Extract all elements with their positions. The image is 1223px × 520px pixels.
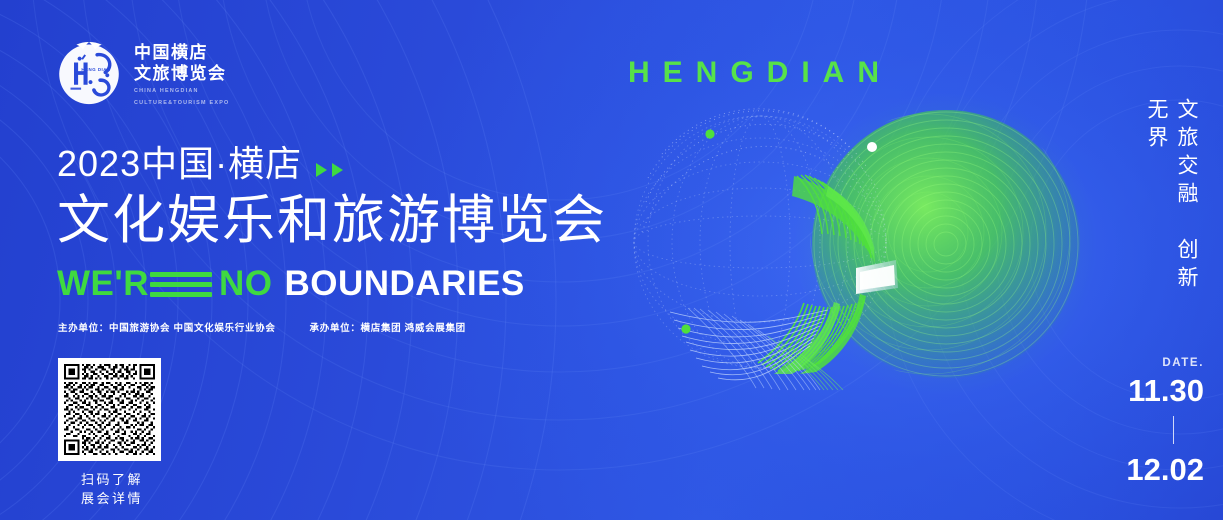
event-slogan: WE'R NO BOUNDARIES <box>57 264 607 304</box>
qr-caption-line2: 展会详情 <box>58 489 166 508</box>
green-node-dot <box>705 129 714 138</box>
organizer-line: 主办单位：中国旅游协会 中国文化娱乐行业协会 承办单位：横店集团 鸿威会展集团 <box>58 322 466 336</box>
logo-cn-line1: 中国横店 <box>134 43 229 63</box>
qr-caption: 扫码了解 展会详情 <box>58 470 166 508</box>
white-node-dot <box>867 142 877 152</box>
svg-text:HENG DIAN: HENG DIAN <box>81 67 110 72</box>
organizer-coordinator: 承办单位：横店集团 鸿威会展集团 <box>310 322 466 336</box>
brand-logo-lockup: HENG DIAN 中国横店 文旅博览会 CHINA HENGDIAN CULT… <box>55 40 229 108</box>
left-content-column: HENG DIAN 中国横店 文旅博览会 CHINA HENGDIAN CULT… <box>55 0 695 520</box>
event-date-block: DATE. 11.30 12.02 <box>1074 356 1204 488</box>
event-year-text: 2023中国·横店 <box>57 142 302 186</box>
headline-block: 2023中国·横店 文化娱乐和旅游博览会 WE'R NO BOUNDARIES <box>57 142 607 304</box>
hengdian-expo-emblem-icon: HENG DIAN <box>55 40 123 108</box>
qr-caption-line1: 扫码了解 <box>58 470 166 489</box>
qr-block[interactable]: 扫码了解 展会详情 <box>58 358 170 508</box>
date-end: 12.02 <box>1074 451 1204 488</box>
qr-code-icon[interactable] <box>58 358 161 461</box>
vertical-slogan-line1: 文旅交融 <box>1175 98 1198 210</box>
logo-en-line1: CHINA HENGDIAN <box>134 88 229 95</box>
circular-brand-text: HENGDIAN <box>628 56 892 89</box>
organizer-host: 主办单位：中国旅游协会 中国文化娱乐行业协会 <box>58 322 276 336</box>
logo-en-line2: CULTURE&TOURISM EXPO <box>134 100 229 107</box>
green-node-dot <box>681 324 690 333</box>
date-label: DATE. <box>1074 356 1204 370</box>
event-banner: HENG DIAN 中国横店 文旅博览会 CHINA HENGDIAN CULT… <box>0 0 1223 520</box>
double-right-arrow-icon <box>316 163 343 177</box>
date-start: 11.30 <box>1074 372 1204 409</box>
abstract-data-sphere-graphic: HENGDIAN <box>628 82 1098 432</box>
event-year-line: 2023中国·横店 <box>57 142 607 186</box>
slogan-part-1: WE'R <box>57 264 149 304</box>
slogan-part-2: NO <box>219 264 273 304</box>
date-divider <box>1173 416 1175 444</box>
brand-logo-text: 中国横店 文旅博览会 CHINA HENGDIAN CULTURE&TOURIS… <box>134 41 229 107</box>
vertical-slogan: 文旅交融 创新无界 <box>1141 98 1201 314</box>
event-main-title: 文化娱乐和旅游博览会 <box>57 188 607 254</box>
logo-cn-line2: 文旅博览会 <box>134 64 229 84</box>
slogan-part-3: BOUNDARIES <box>284 264 524 304</box>
stretched-letter-e-bars-icon <box>150 272 212 297</box>
